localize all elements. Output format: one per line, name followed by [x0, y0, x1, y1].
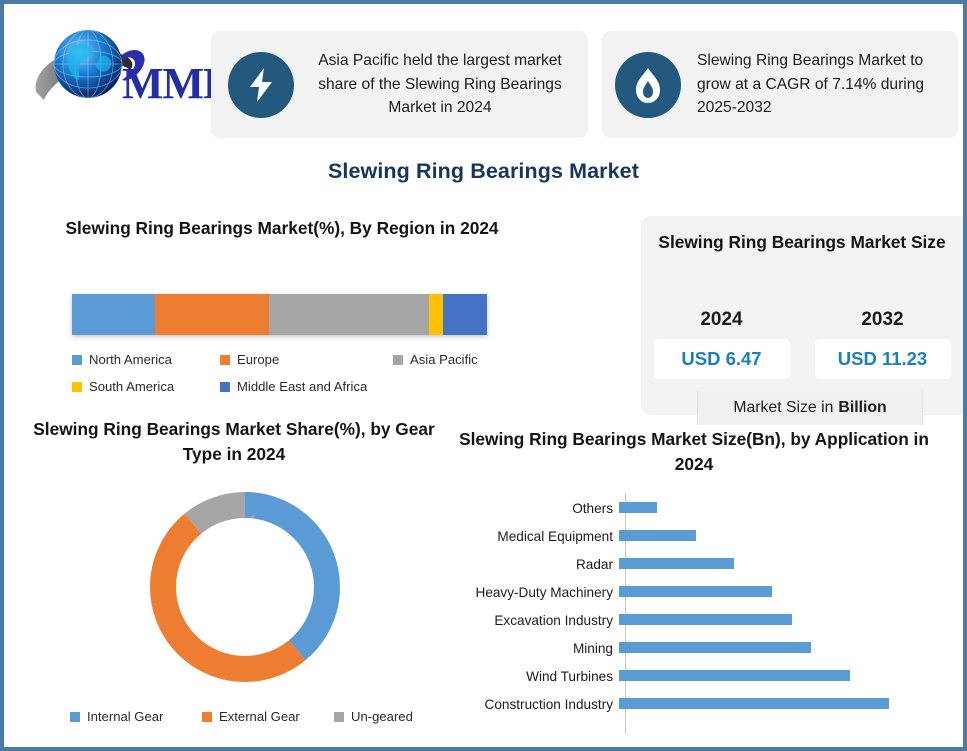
- header: MMR Asia Pacific held the largest market…: [4, 4, 963, 144]
- region-stacked-bar: [72, 294, 487, 335]
- application-label-medical-equipment: Medical Equipment: [444, 529, 619, 544]
- region-segment-europe: [155, 294, 269, 335]
- table-row: Excavation Industry: [444, 605, 956, 635]
- market-size-unit-prefix: Market Size in: [733, 399, 833, 417]
- application-bar-mining: [619, 642, 811, 653]
- legend-item-middle-east-africa: Middle East and Africa: [220, 373, 393, 400]
- table-row: Wind Turbines: [444, 661, 956, 691]
- gear-type-legend: Internal Gear External Gear Un-geared: [70, 709, 470, 724]
- header-card-region-share: Asia Pacific held the largest market sha…: [211, 31, 588, 138]
- application-bar-heavy-duty-machinery: [619, 586, 772, 597]
- gear-type-chart-title: Slewing Ring Bearings Market Share(%), b…: [24, 417, 444, 467]
- legend-label-un-geared: Un-geared: [351, 709, 413, 724]
- legend-swatch-external-gear: [202, 712, 212, 722]
- table-row: Mining: [444, 633, 956, 663]
- application-track-construction-industry: [619, 689, 956, 719]
- region-segment-asia-pacific: [269, 294, 429, 335]
- legend-item-europe: Europe: [220, 346, 393, 373]
- legend-label-asia-pacific: Asia Pacific: [410, 352, 478, 367]
- lightning-bolt-icon: [228, 52, 294, 118]
- table-row: Heavy-Duty Machinery: [444, 577, 956, 607]
- region-legend: North America Europe Asia Pacific South …: [72, 346, 542, 400]
- application-track-heavy-duty-machinery: [619, 577, 956, 607]
- application-track-wind-turbines: [619, 661, 956, 691]
- legend-label-internal-gear: Internal Gear: [87, 709, 163, 724]
- application-label-wind-turbines: Wind Turbines: [444, 669, 619, 684]
- application-bar-radar: [619, 558, 734, 569]
- application-plot-area: Others Medical Equipment Radar Heavy-Dut…: [444, 493, 956, 738]
- legend-item-internal-gear: Internal Gear: [70, 709, 202, 724]
- legend-swatch-middle-east-africa: [220, 382, 230, 392]
- market-size-panel: Slewing Ring Bearings Market Size 2024 U…: [641, 216, 963, 415]
- application-track-mining: [619, 633, 956, 663]
- mmr-logo: MMR: [26, 20, 212, 116]
- legend-label-south-america: South America: [89, 379, 174, 394]
- market-size-year-row: 2024 USD 6.47 2032 USD 11.23: [641, 309, 963, 379]
- legend-swatch-europe: [220, 355, 230, 365]
- header-card-cagr: Slewing Ring Bearings Market to grow at …: [602, 31, 958, 138]
- legend-item-north-america: North America: [72, 346, 220, 373]
- application-bar-medical-equipment: [619, 530, 696, 541]
- table-row: Construction Industry: [444, 689, 956, 719]
- application-track-excavation-industry: [619, 605, 956, 635]
- header-card-2-text: Slewing Ring Bearings Market to grow at …: [681, 49, 958, 121]
- application-bar-wind-turbines: [619, 670, 850, 681]
- region-segment-north-america: [72, 294, 155, 335]
- legend-label-europe: Europe: [237, 352, 279, 367]
- legend-swatch-asia-pacific: [393, 355, 403, 365]
- legend-item-external-gear: External Gear: [202, 709, 334, 724]
- region-chart-title: Slewing Ring Bearings Market(%), By Regi…: [42, 216, 522, 241]
- market-size-title: Slewing Ring Bearings Market Size: [641, 216, 963, 255]
- market-size-col-2024: 2024 USD 6.47: [641, 309, 802, 379]
- region-segment-south-america: [429, 294, 444, 335]
- application-bar-construction-industry: [619, 698, 889, 709]
- region-segment-middle-east-africa: [443, 294, 487, 335]
- table-row: Medical Equipment: [444, 521, 956, 551]
- legend-swatch-internal-gear: [70, 712, 80, 722]
- year-label-2032: 2032: [802, 309, 963, 331]
- gear-type-donut: [140, 482, 350, 692]
- application-bar-others: [619, 502, 657, 513]
- market-size-value-2024: USD 6.47: [654, 339, 790, 379]
- application-bar-excavation-industry: [619, 614, 792, 625]
- application-label-heavy-duty-machinery: Heavy-Duty Machinery: [444, 585, 619, 600]
- application-label-construction-industry: Construction Industry: [444, 697, 619, 712]
- legend-label-north-america: North America: [89, 352, 172, 367]
- application-label-others: Others: [444, 501, 619, 516]
- region-share-chart: Slewing Ring Bearings Market(%), By Regi…: [34, 216, 594, 241]
- flame-icon: [615, 52, 681, 118]
- market-size-unit-footer: Market Size in Billion: [697, 391, 923, 425]
- page-title: Slewing Ring Bearings Market: [4, 159, 963, 184]
- infographic-page: MMR Asia Pacific held the largest market…: [0, 0, 967, 751]
- table-row: Radar: [444, 549, 956, 579]
- application-label-mining: Mining: [444, 641, 619, 656]
- legend-label-middle-east-africa: Middle East and Africa: [237, 379, 367, 394]
- year-label-2024: 2024: [641, 309, 802, 331]
- market-size-unit-value: Billion: [838, 399, 886, 417]
- legend-item-asia-pacific: Asia Pacific: [393, 346, 533, 373]
- market-size-col-2032: 2032 USD 11.23: [802, 309, 963, 379]
- market-size-value-2032: USD 11.23: [815, 339, 951, 379]
- application-chart-title: Slewing Ring Bearings Market Size(Bn), b…: [444, 427, 944, 477]
- gear-type-chart: Slewing Ring Bearings Market Share(%), b…: [24, 417, 464, 467]
- legend-item-south-america: South America: [72, 373, 220, 400]
- application-label-radar: Radar: [444, 557, 619, 572]
- application-chart: Slewing Ring Bearings Market Size(Bn), b…: [444, 427, 956, 477]
- header-card-1-text: Asia Pacific held the largest market sha…: [294, 49, 588, 121]
- svg-text:MMR: MMR: [122, 59, 212, 108]
- legend-swatch-un-geared: [334, 712, 344, 722]
- application-label-excavation-industry: Excavation Industry: [444, 613, 619, 628]
- application-track-radar: [619, 549, 956, 579]
- legend-swatch-north-america: [72, 355, 82, 365]
- legend-item-un-geared: Un-geared: [334, 709, 454, 724]
- legend-swatch-south-america: [72, 382, 82, 392]
- globe-logo-icon: MMR: [26, 20, 212, 116]
- legend-label-external-gear: External Gear: [219, 709, 300, 724]
- application-track-medical-equipment: [619, 521, 956, 551]
- table-row: Others: [444, 493, 956, 523]
- application-track-others: [619, 493, 956, 523]
